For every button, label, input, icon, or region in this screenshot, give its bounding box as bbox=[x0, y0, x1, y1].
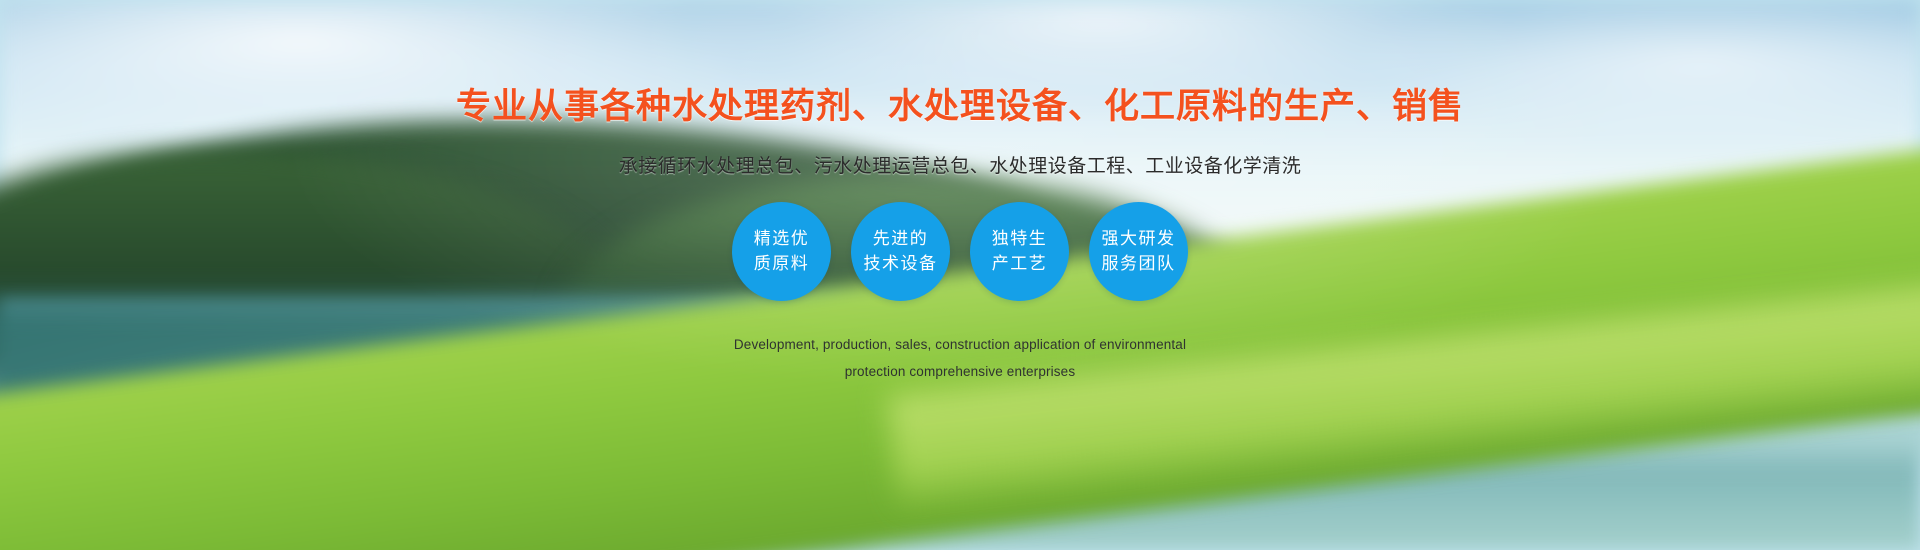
feature-circle-line2: 技术设备 bbox=[864, 252, 938, 276]
banner-content: 专业从事各种水处理药剂、水处理设备、化工原料的生产、销售 承接循环水处理总包、污… bbox=[0, 0, 1920, 550]
feature-circle-line1: 强大研发 bbox=[1102, 227, 1176, 251]
banner-headline: 专业从事各种水处理药剂、水处理设备、化工原料的生产、销售 bbox=[456, 78, 1464, 129]
feature-circle-list: 精选优 质原料 先进的 技术设备 独特生 产工艺 强大研发 服务团队 bbox=[732, 202, 1188, 301]
feature-circle-quality-materials[interactable]: 精选优 质原料 bbox=[732, 202, 831, 301]
english-tagline-line1: Development, production, sales, construc… bbox=[734, 331, 1186, 358]
feature-circle-line2: 产工艺 bbox=[992, 252, 1048, 276]
english-tagline-line2: protection comprehensive enterprises bbox=[734, 358, 1186, 385]
feature-circle-line1: 精选优 bbox=[754, 227, 810, 251]
feature-circle-line2: 服务团队 bbox=[1102, 252, 1176, 276]
feature-circle-rnd-team[interactable]: 强大研发 服务团队 bbox=[1089, 202, 1188, 301]
banner-english-tagline: Development, production, sales, construc… bbox=[734, 331, 1186, 385]
feature-circle-line2: 质原料 bbox=[754, 252, 810, 276]
feature-circle-line1: 独特生 bbox=[992, 227, 1048, 251]
feature-circle-advanced-equipment[interactable]: 先进的 技术设备 bbox=[851, 202, 950, 301]
feature-circle-unique-process[interactable]: 独特生 产工艺 bbox=[970, 202, 1069, 301]
feature-circle-line1: 先进的 bbox=[873, 227, 929, 251]
hero-banner: 专业从事各种水处理药剂、水处理设备、化工原料的生产、销售 承接循环水处理总包、污… bbox=[0, 0, 1920, 550]
banner-subheadline: 承接循环水处理总包、污水处理运营总包、水处理设备工程、工业设备化学清洗 bbox=[619, 151, 1302, 178]
